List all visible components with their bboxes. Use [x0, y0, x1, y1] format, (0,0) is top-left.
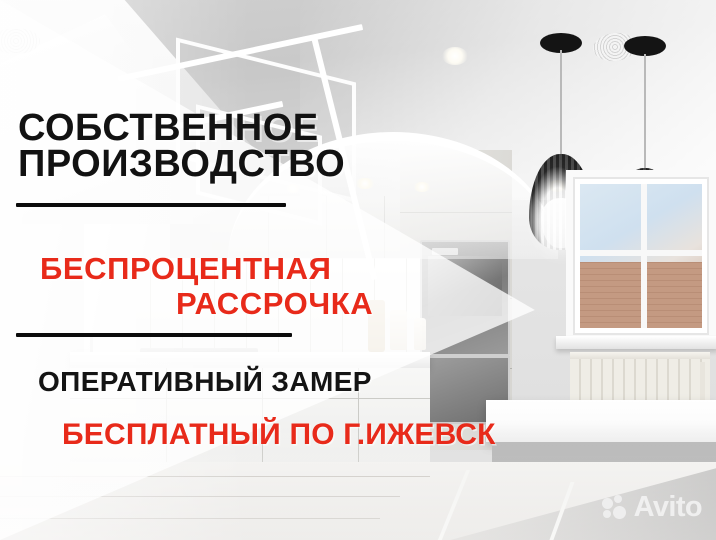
divider-1	[16, 203, 286, 207]
avito-dots-icon	[602, 495, 627, 520]
free-measure-text: БЕСПЛАТНЫЙ ПО Г.ИЖЕВСК	[62, 418, 716, 452]
headline-line-2: ПРОИЗВОДСТВО	[18, 146, 658, 182]
page-title: СОБСТВЕННОЕ ПРОИЗВОДСТВО	[18, 110, 658, 183]
avito-wordmark: Avito	[634, 493, 702, 522]
promo-line-2: РАССРОЧКА	[40, 287, 690, 322]
avito-ad-image: СОБСТВЕННОЕ ПРОИЗВОДСТВО БЕСПРОЦЕНТНАЯ Р…	[0, 0, 716, 540]
promo-line-1: БЕСПРОЦЕНТНАЯ	[40, 251, 332, 286]
divider-2	[16, 333, 292, 337]
ad-copy: СОБСТВЕННОЕ ПРОИЗВОДСТВО БЕСПРОЦЕНТНАЯ Р…	[0, 0, 716, 540]
measure-text: ОПЕРАТИВНЫЙ ЗАМЕР	[38, 366, 688, 398]
avito-watermark: Avito	[602, 493, 702, 522]
promo-text: БЕСПРОЦЕНТНАЯ РАССРОЧКА	[40, 252, 690, 321]
